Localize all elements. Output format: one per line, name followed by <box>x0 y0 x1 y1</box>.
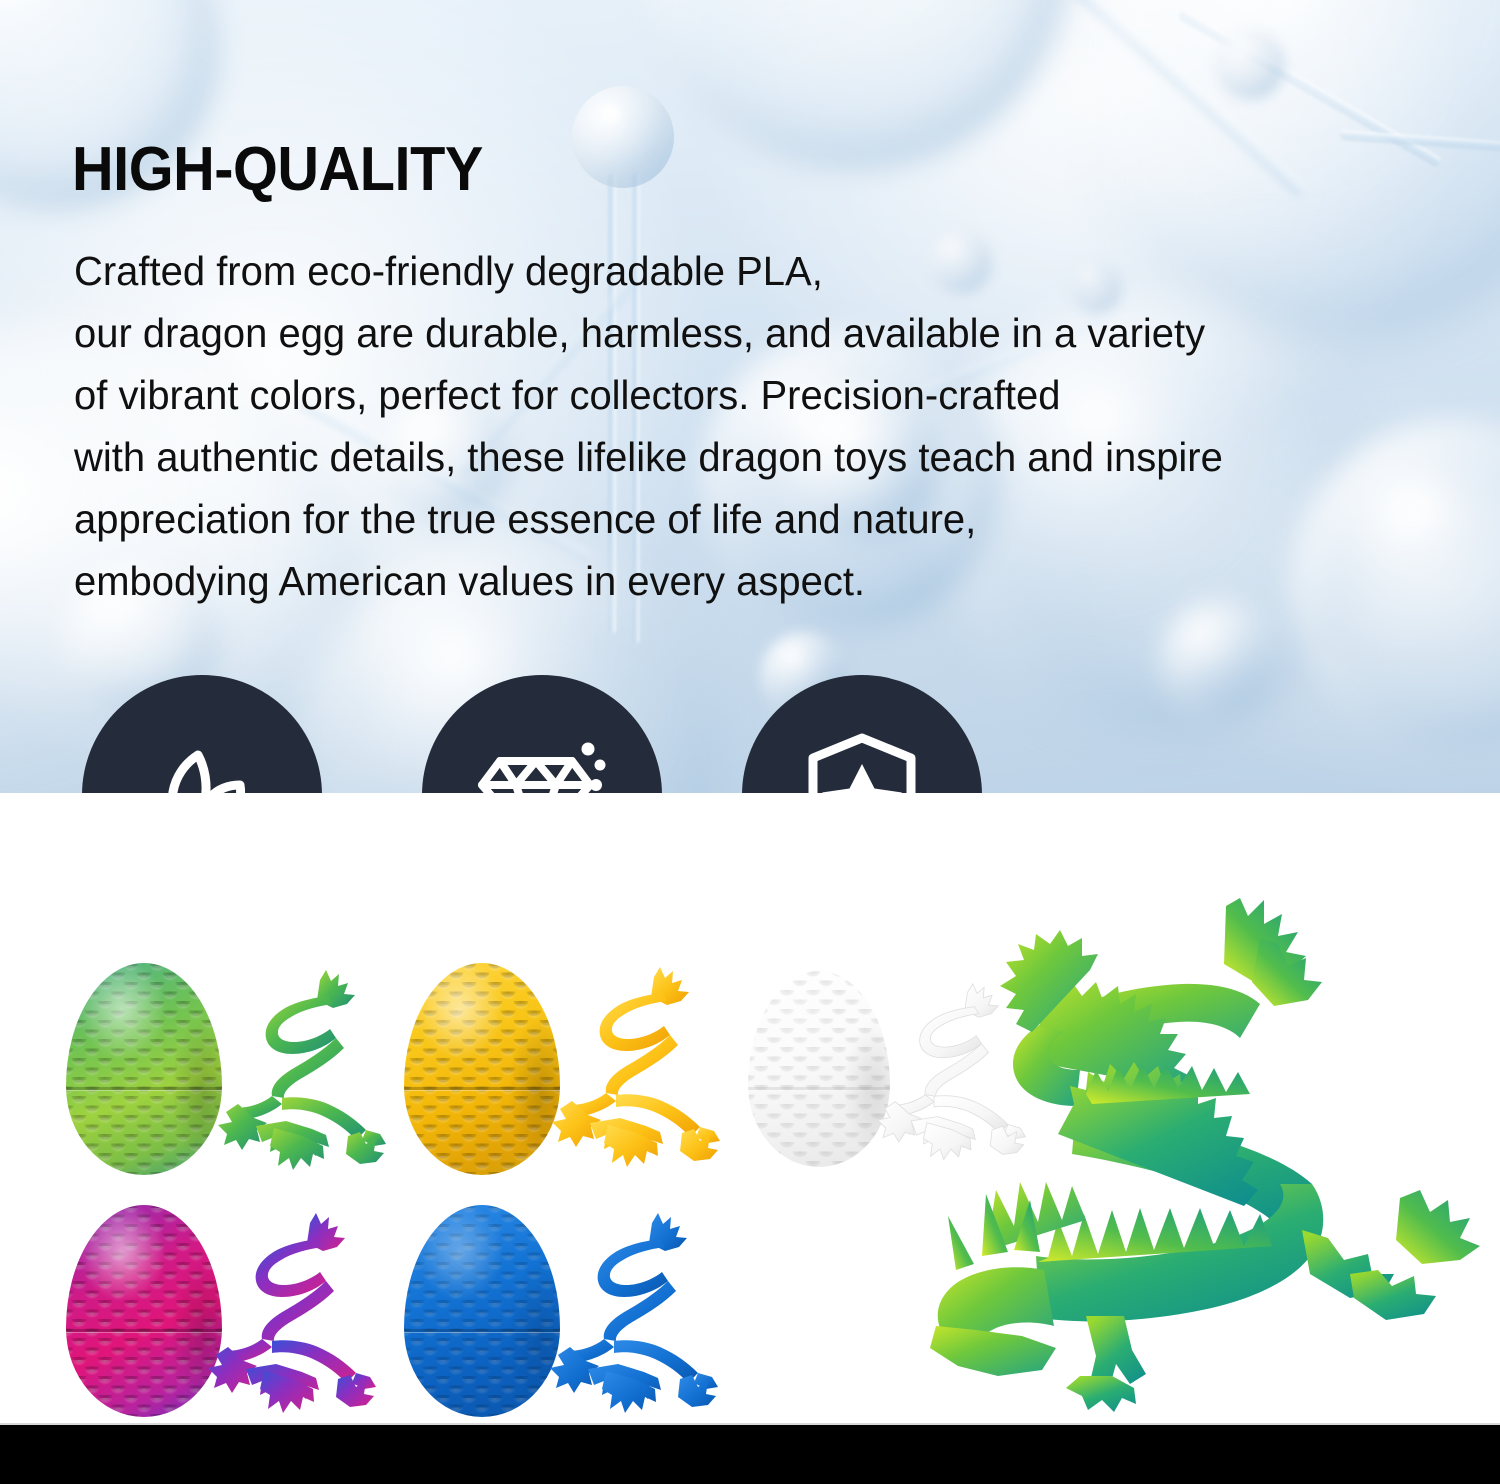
dragon-figure-blue[interactable] <box>548 1211 730 1411</box>
description-line: Crafted from eco-friendly degradable PLA… <box>74 240 1420 302</box>
dragon-figure-purple[interactable] <box>206 1211 388 1411</box>
dragon-egg-gold[interactable] <box>404 963 560 1175</box>
dragon-egg-purple[interactable] <box>66 1205 222 1417</box>
product-showcase <box>0 793 1500 1425</box>
description-line: with authentic details, these lifelike d… <box>74 426 1420 488</box>
description-paragraph: Crafted from eco-friendly degradable PLA… <box>74 240 1420 612</box>
product-feature-banner: HIGH-QUALITY Crafted from eco-friendly d… <box>0 0 1500 1484</box>
dragon-figure-gold[interactable] <box>550 965 732 1165</box>
description-line: of vibrant colors, perfect for collector… <box>74 364 1420 426</box>
footer-bar <box>0 1425 1500 1484</box>
dragon-egg-green[interactable] <box>66 963 222 1175</box>
page-title: HIGH-QUALITY <box>72 139 483 201</box>
dragon-egg-blue[interactable] <box>404 1205 560 1417</box>
description-line: embodying American values in every aspec… <box>74 550 1420 612</box>
dragon-egg-white[interactable] <box>748 971 890 1167</box>
description-line: appreciation for the true essence of lif… <box>74 488 1420 550</box>
dragon-figure-green[interactable] <box>216 968 398 1168</box>
description-line: our dragon egg are durable, harmless, an… <box>74 302 1420 364</box>
hero-crystal-dragon[interactable] <box>930 898 1500 1418</box>
